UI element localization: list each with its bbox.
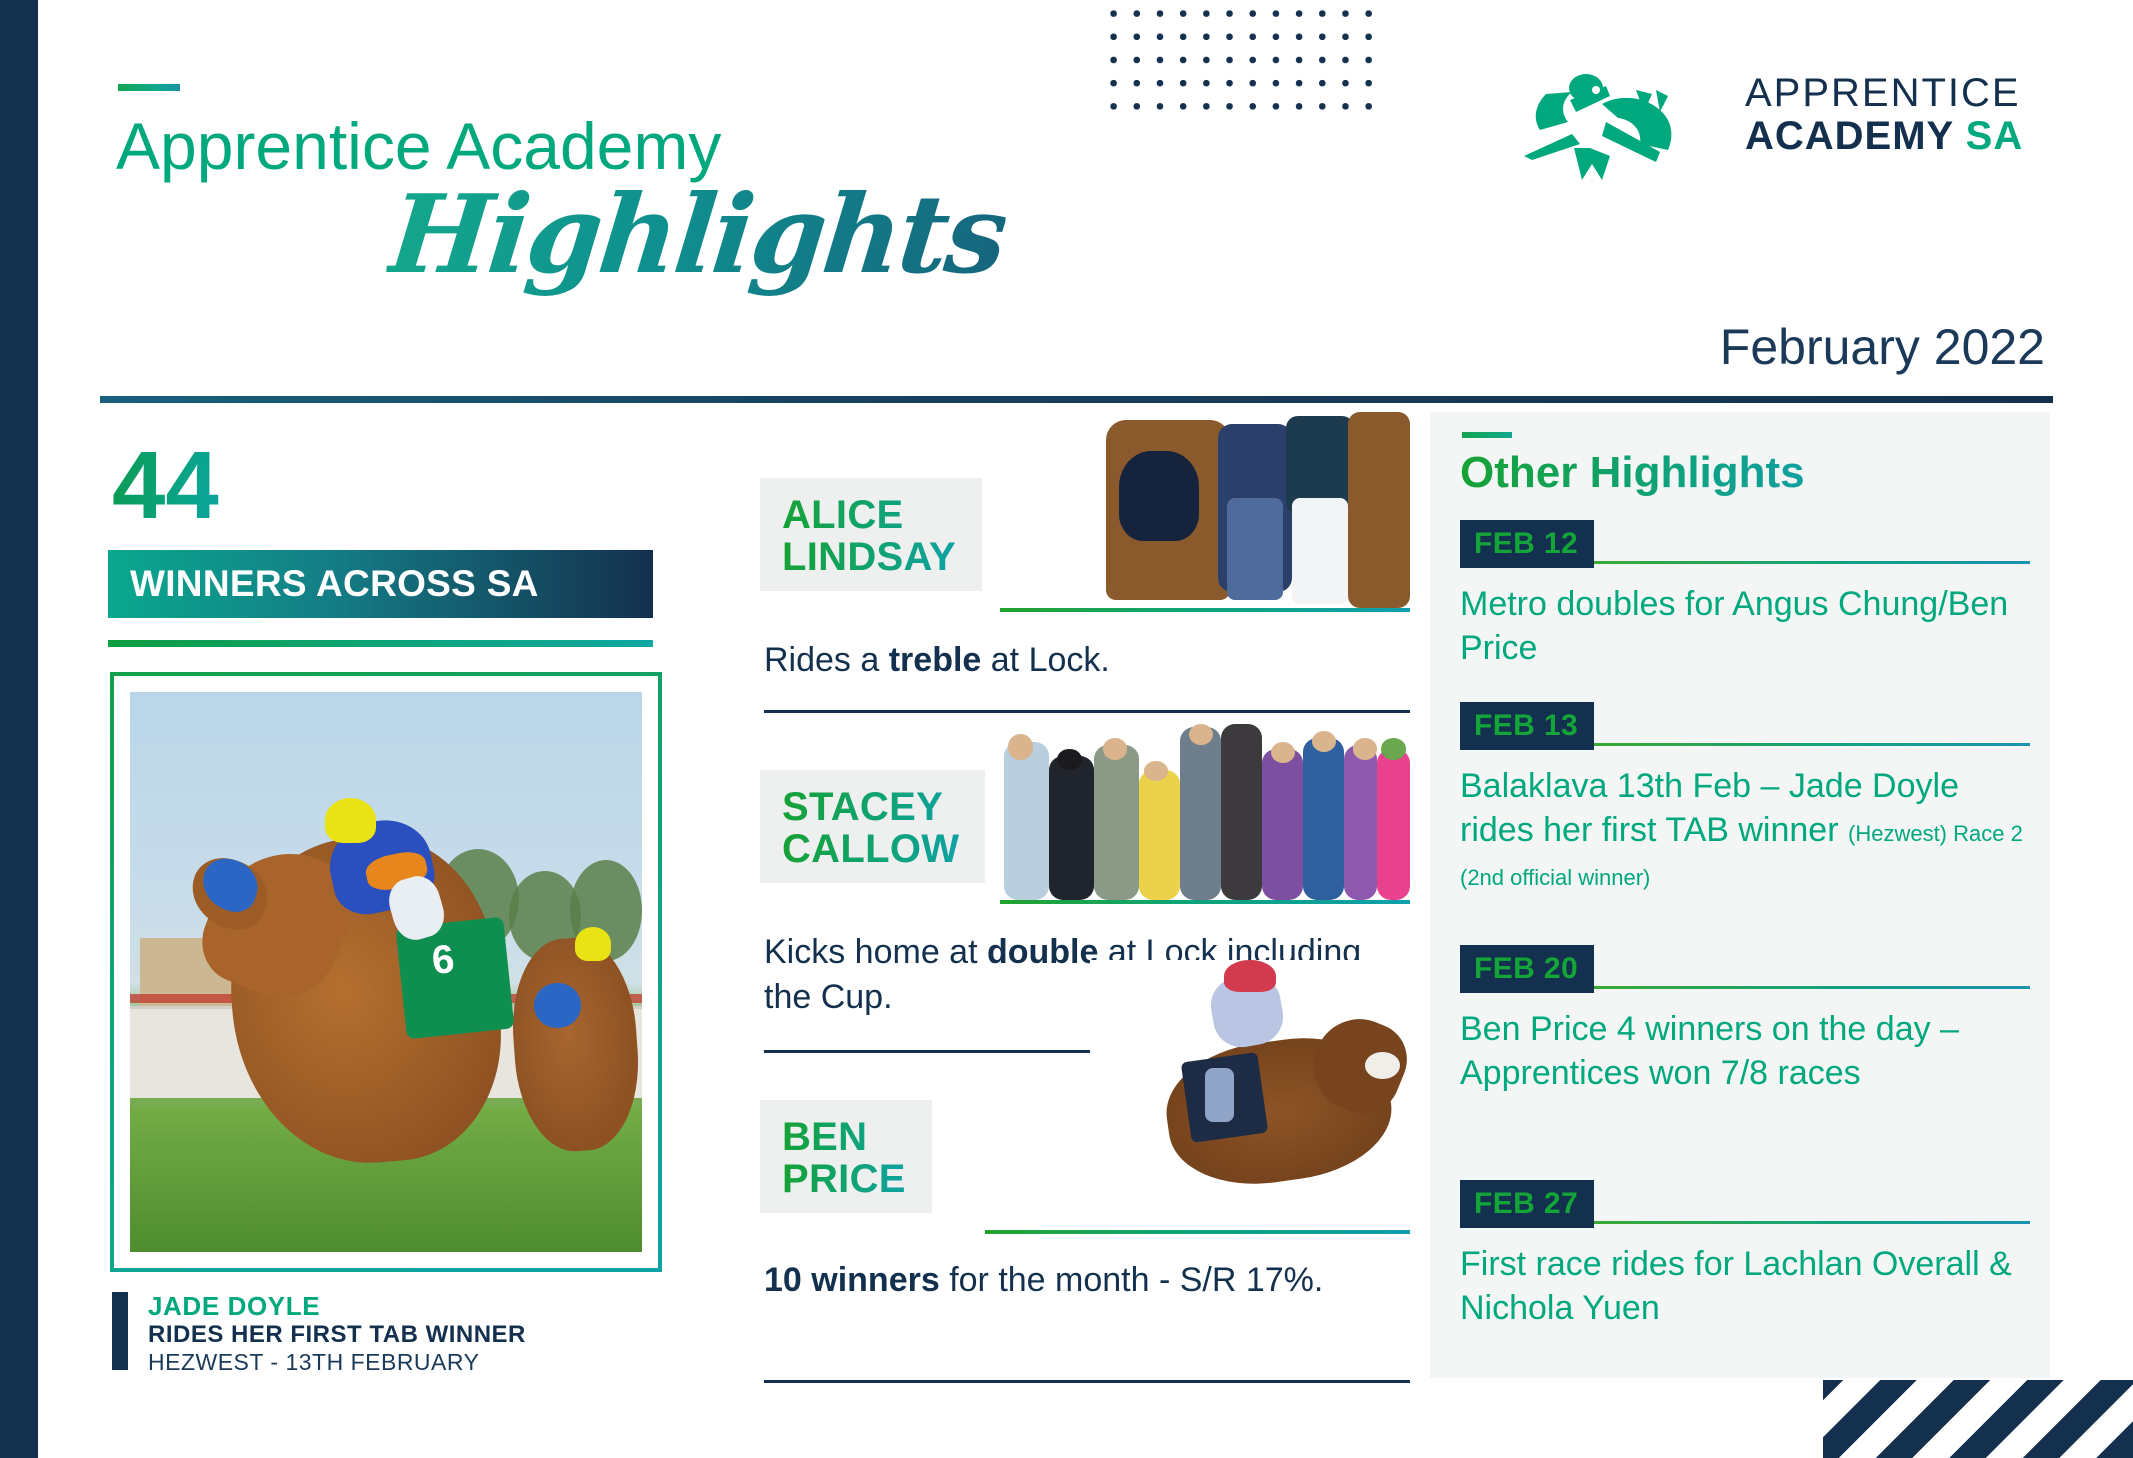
highlight-date-badge: FEB 20: [1460, 945, 1594, 993]
rider-photo-alice-lindsay: [1100, 412, 1410, 608]
feature-photo: 6: [130, 692, 642, 1252]
header-divider: [100, 396, 2053, 403]
highlight-item-feb-20: FEB 20 Ben Price 4 winners on the day – …: [1460, 945, 2030, 1095]
highlight-text: Ben Price 4 winners on the day – Apprent…: [1460, 1007, 2030, 1095]
highlight-item-feb-27: FEB 27 First race rides for Lachlan Over…: [1460, 1180, 2030, 1330]
highlight-text-main: Metro doubles for Angus Chung/Ben Price: [1460, 585, 2008, 667]
rider-name-line1: BEN: [782, 1116, 906, 1158]
caption-subtitle: RIDES HER FIRST TAB WINNER: [148, 1321, 526, 1349]
winners-count: 44: [112, 438, 219, 534]
highlight-date-row: FEB 13: [1460, 702, 2030, 750]
logo-icon: [1510, 60, 1690, 170]
rider-photo-ben-price: [1090, 960, 1410, 1230]
desc-bold: treble: [889, 641, 982, 679]
caption-accent-bar: [112, 1292, 128, 1370]
rider-name-line1: STACEY: [782, 786, 959, 828]
page-title-script: Highlights: [383, 172, 1010, 298]
desc-post: for the month - S/R 17%.: [940, 1261, 1324, 1299]
desc-bold: double: [987, 933, 1098, 971]
desc-bold: 10 winners: [764, 1261, 940, 1299]
header-accent-dash: [118, 84, 180, 91]
desc-pre: Rides a: [764, 641, 889, 679]
poster-page: Apprentice Academy Highlights APPRENTICE…: [0, 0, 2133, 1458]
other-highlights-accent-dash: [1462, 432, 1512, 438]
highlight-date-badge: FEB 12: [1460, 520, 1594, 568]
highlight-date-rule: [1594, 1221, 2030, 1224]
highlight-date-row: FEB 12: [1460, 520, 2030, 568]
logo-wordmark-line2: ACADEMY SA: [1745, 115, 2023, 158]
highlight-text: Metro doubles for Angus Chung/Ben Price: [1460, 582, 2030, 670]
highlight-text-main: First race rides for Lachlan Overall & N…: [1460, 1245, 2012, 1327]
rider-name-box-alice-lindsay: ALICE LINDSAY: [760, 478, 982, 591]
rider-description-ben-price: 10 winners for the month - S/R 17%.: [764, 1258, 1364, 1303]
rider-photo-stacey-callow: [1000, 720, 1410, 900]
highlight-text-main: Ben Price 4 winners on the day – Apprent…: [1460, 1010, 1959, 1092]
highlight-date-rule: [1594, 743, 2030, 746]
highlight-text: First race rides for Lachlan Overall & N…: [1460, 1242, 2030, 1330]
rider-name-line2: LINDSAY: [782, 536, 956, 578]
rider-name-box-stacey-callow: STACEY CALLOW: [760, 770, 985, 883]
rider-divider-top: [1000, 608, 1410, 612]
highlight-item-feb-12: FEB 12 Metro doubles for Angus Chung/Ben…: [1460, 520, 2030, 670]
issue-month: February 2022: [1720, 318, 2045, 376]
dot-grid-decoration: [1100, 0, 1372, 124]
diagonal-stripes-decoration: [1823, 1380, 2133, 1458]
logo-wordmark-line1: APPRENTICE: [1745, 72, 2023, 115]
caption-name: JADE DOYLE: [148, 1292, 526, 1321]
rider-description-alice-lindsay: Rides a treble at Lock.: [764, 638, 1404, 683]
winners-underline: [108, 640, 653, 647]
rider-name-line1: ALICE: [782, 494, 956, 536]
left-navy-rail: [0, 0, 38, 1458]
rider-name-line2: CALLOW: [782, 828, 959, 870]
highlight-date-badge: FEB 27: [1460, 1180, 1594, 1228]
rider-divider-bottom: [764, 710, 1410, 713]
feature-photo-caption: JADE DOYLE RIDES HER FIRST TAB WINNER HE…: [112, 1292, 526, 1376]
winners-label: WINNERS ACROSS SA: [130, 563, 539, 605]
rider-divider-top: [985, 1230, 1410, 1234]
highlight-date-rule: [1594, 561, 2030, 564]
feature-photo-frame: 6: [110, 672, 662, 1272]
highlight-date-badge: FEB 13: [1460, 702, 1594, 750]
rider-divider-top: [1000, 900, 1410, 904]
desc-post: at Lock.: [981, 641, 1110, 679]
highlight-date-rule: [1594, 986, 2030, 989]
rider-name-line2: PRICE: [782, 1158, 906, 1200]
caption-detail: HEZWEST - 13TH FEBRUARY: [148, 1349, 526, 1377]
highlight-date-row: FEB 20: [1460, 945, 2030, 993]
winners-label-bar: WINNERS ACROSS SA: [108, 550, 653, 618]
other-highlights-title: Other Highlights: [1460, 448, 1805, 498]
highlight-text: Balaklava 13th Feb – Jade Doyle rides he…: [1460, 764, 2030, 897]
highlight-date-row: FEB 27: [1460, 1180, 2030, 1228]
highlight-item-feb-13: FEB 13 Balaklava 13th Feb – Jade Doyle r…: [1460, 702, 2030, 897]
rider-name-box-ben-price: BEN PRICE: [760, 1100, 932, 1213]
logo-wordmark: APPRENTICE ACADEMY SA: [1745, 72, 2023, 158]
desc-pre: Kicks home at: [764, 933, 987, 971]
rider-divider-bottom: [764, 1380, 1410, 1383]
